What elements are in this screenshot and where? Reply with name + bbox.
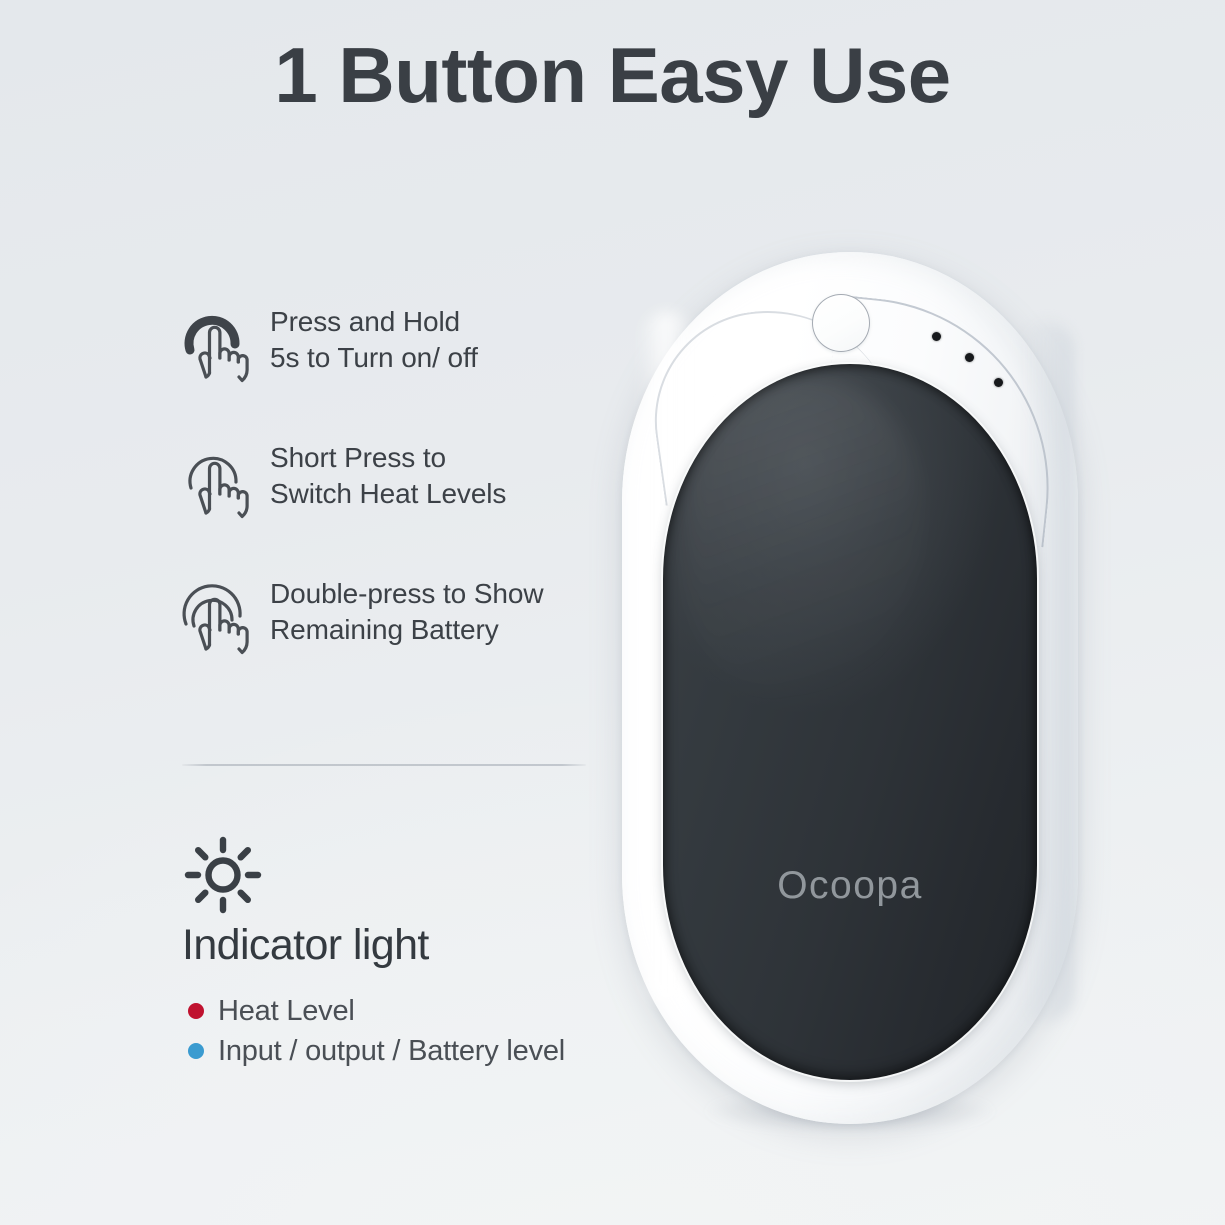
sun-brightness-icon: [184, 836, 262, 914]
power-button[interactable]: [812, 294, 870, 352]
feature-line-2: Switch Heat Levels: [270, 476, 506, 512]
feature-item-double-press: Double-press to Show Remaining Battery: [178, 572, 618, 668]
led-indicator-2: [965, 353, 974, 362]
feature-line-2: Remaining Battery: [270, 612, 543, 648]
feature-item-press-hold: Press and Hold 5s to Turn on/ off: [178, 300, 618, 396]
hand-double-press-icon: [178, 578, 252, 658]
section-divider: [182, 764, 586, 766]
led-indicator-1: [932, 332, 941, 341]
legend-item-heat-level: Heat Level: [182, 991, 652, 1031]
page-title: 1 Button Easy Use: [0, 36, 1225, 114]
feature-item-short-press: Short Press to Switch Heat Levels: [178, 436, 618, 532]
feature-line-1: Press and Hold: [270, 306, 460, 337]
feature-line-1: Short Press to: [270, 442, 446, 473]
brand-logo: Ocoopa: [663, 864, 1037, 908]
feature-list: Press and Hold 5s to Turn on/ off Short …: [178, 300, 618, 668]
device-white-body: Ocoopa: [622, 252, 1078, 1124]
indicator-light-title: Indicator light: [182, 922, 652, 969]
legend-label: Heat Level: [218, 997, 355, 1026]
feature-line-1: Double-press to Show: [270, 578, 543, 609]
legend-label: Input / output / Battery level: [218, 1037, 565, 1066]
hand-press-hold-icon: [178, 306, 252, 386]
legend-item-battery-level: Input / output / Battery level: [182, 1031, 652, 1071]
feature-text: Press and Hold 5s to Turn on/ off: [270, 300, 478, 377]
indicator-legend: Heat Level Input / output / Battery leve…: [182, 991, 652, 1071]
product-image-hand-warmer: Ocoopa: [622, 252, 1078, 1132]
hand-short-press-icon: [178, 442, 252, 522]
feature-text: Double-press to Show Remaining Battery: [270, 572, 543, 649]
led-indicator-3: [994, 378, 1003, 387]
legend-dot-red: [188, 1003, 204, 1019]
legend-dot-blue: [188, 1043, 204, 1059]
feature-line-2: 5s to Turn on/ off: [270, 340, 478, 376]
feature-text: Short Press to Switch Heat Levels: [270, 436, 506, 513]
infographic-page: 1 Button Easy Use Press and Hold 5s to T…: [0, 0, 1225, 1225]
indicator-light-section: Indicator light Heat Level Input / outpu…: [182, 836, 652, 1071]
heating-panel: Ocoopa: [663, 364, 1037, 1080]
panel-sheen: [685, 378, 924, 693]
